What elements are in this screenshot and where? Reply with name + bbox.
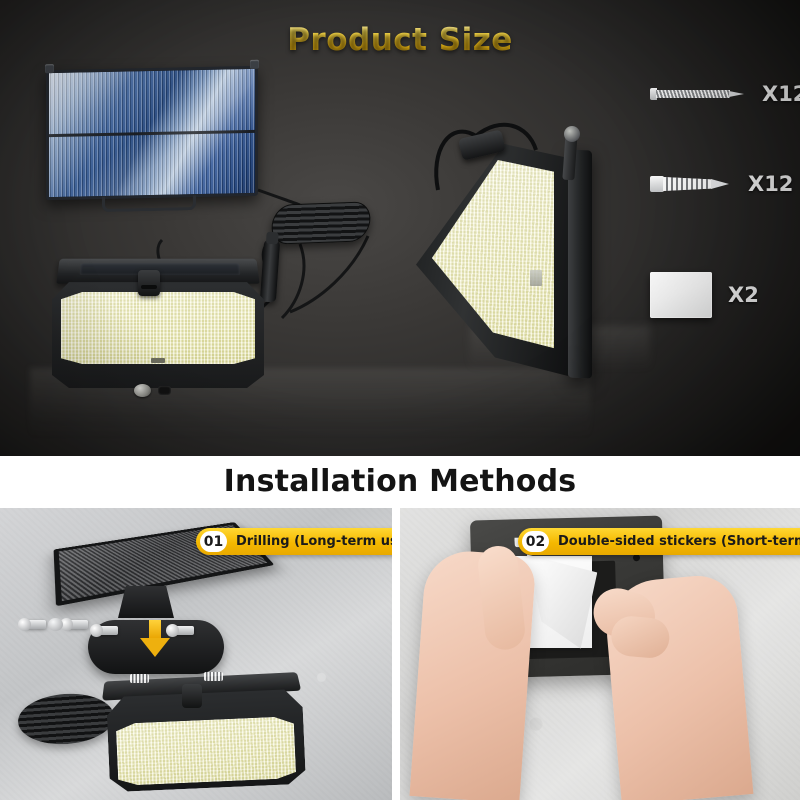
screw-hole (633, 554, 640, 561)
brand-logo (151, 358, 165, 363)
product-size-title: Product Size (0, 22, 800, 58)
led-array-panel-angled (432, 160, 554, 356)
method-label: Drilling (Long-term use) (236, 534, 392, 549)
solar-panel-frame (46, 66, 258, 200)
anchor-count: X12 (748, 172, 793, 196)
panel-mount-bracket (118, 586, 174, 618)
mode-button (158, 386, 171, 395)
accessory-sticker: X2 (650, 272, 759, 318)
drilling-method-photo: 01 Drilling (Long-term use) (0, 508, 392, 800)
solar-panel (46, 66, 258, 200)
sticker-method-photo: 02 Double-sided stickers (Short-term use… (400, 508, 800, 800)
accessory-screw: X12 (650, 82, 800, 106)
sticker-icon (650, 272, 712, 318)
screw-count: X12 (762, 82, 800, 106)
solar-panel-bracket (102, 195, 196, 212)
anchor-icon (650, 174, 732, 194)
mount-screws (130, 674, 280, 686)
light-side-profile (568, 149, 592, 378)
motion-sensor-icon (134, 384, 151, 397)
solar-panel-glare (49, 69, 255, 197)
right-hand (603, 573, 754, 800)
cable-jack (138, 270, 160, 296)
installation-methods-section: Installation Methods (0, 456, 800, 800)
method-number: 02 (522, 531, 549, 552)
mounted-led-light (104, 676, 309, 800)
down-arrow-icon (140, 620, 170, 658)
top-solar-strip (80, 263, 241, 274)
sticker-count: X2 (728, 283, 759, 307)
adjustment-knob (564, 126, 580, 142)
left-hand (409, 548, 536, 800)
thumb (476, 544, 527, 652)
coiled-cable (269, 201, 372, 244)
brand-logo (530, 270, 542, 286)
anchor-in-wall (48, 618, 63, 631)
led-wall-light-front (52, 258, 264, 400)
led-wall-light-angled (414, 120, 594, 382)
panel-stud (45, 64, 54, 73)
product-size-section: Product Size (0, 0, 800, 456)
product-infographic: Product Size (0, 0, 800, 800)
method-badge-01: 01 Drilling (Long-term use) (196, 528, 392, 555)
screw-in-wall (96, 626, 118, 635)
cable-jack (182, 684, 202, 708)
screw-icon (650, 87, 746, 101)
method-number: 01 (200, 531, 227, 552)
installation-title: Installation Methods (0, 464, 800, 499)
photo-divider (392, 508, 400, 800)
panel-stud (250, 60, 259, 69)
finger (610, 615, 671, 660)
led-array-panel (61, 292, 255, 364)
screw-in-wall (24, 620, 46, 629)
led-array-panel (116, 716, 297, 786)
screw-in-wall (172, 626, 194, 635)
method-label: Double-sided stickers (Short-term use) (558, 534, 800, 549)
method-badge-02: 02 Double-sided stickers (Short-term use… (518, 528, 800, 555)
accessory-anchor: X12 (650, 172, 793, 196)
screw-in-wall (66, 620, 88, 629)
